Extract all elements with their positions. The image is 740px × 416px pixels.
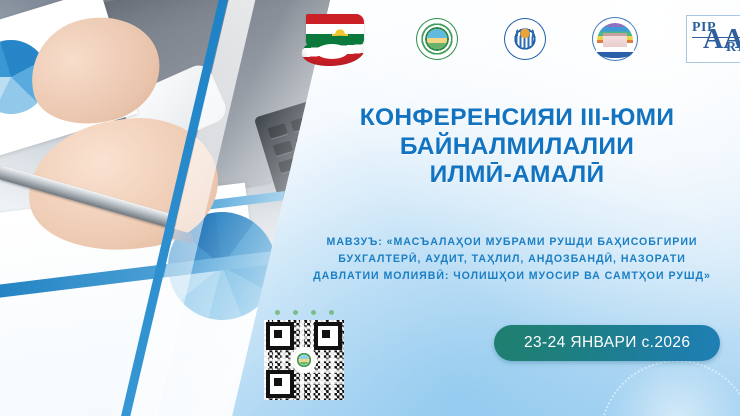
qr-dot xyxy=(275,310,280,315)
tajik-state-university-of-commerce-seal-icon xyxy=(416,18,458,60)
title-line-3: ИЛМӢ-АМАЛӢ xyxy=(300,161,734,190)
qr-code-icon[interactable] xyxy=(264,320,344,400)
qr-dot xyxy=(311,310,316,315)
qr-dot-row xyxy=(268,310,340,315)
logo-row: PIP AA RT xyxy=(300,4,732,74)
subtitle-line-1: МАВЗУЪ: «МАСЪАЛАҲОИ МУБРАМИ РУШДИ БАҲИСО… xyxy=(286,234,738,251)
tajikistan-flag-ribbon-icon xyxy=(300,8,366,70)
subtitle-line-3: ДАВЛАТИИ МОЛИЯВӢ: ЧОЛИШҲОИ МУОСИР ВА САМ… xyxy=(286,268,738,285)
cis-emblem-seal-icon xyxy=(504,18,546,60)
page-title: КОНФЕРЕНСИЯИ III-ЮМИ БАЙНАЛМИЛАЛИИ ИЛМӢ-… xyxy=(300,104,734,190)
subtitle-line-2: БУХГАЛТЕРӢ, АУДИТ, ТАҲЛИЛ, АНДОЗБАНДӢ, Н… xyxy=(286,251,738,268)
title-line-1: КОНФЕРЕНСИЯИ III-ЮМИ xyxy=(300,104,734,133)
title-line-2: БАЙНАЛМИЛАЛИИ xyxy=(300,133,734,162)
qr-dot xyxy=(293,310,298,315)
date-badge: 23-24 ЯНВАРИ с.2026 xyxy=(494,325,720,361)
qr-center-logo-icon xyxy=(293,349,315,371)
conference-poster: PIP AA RT КОНФЕРЕНСИЯИ III-ЮМИ БАЙНАЛМИЛ… xyxy=(0,0,740,416)
pipa-logo-text-right: RT xyxy=(726,40,740,56)
qr-dot xyxy=(329,310,334,315)
qr-code-block[interactable] xyxy=(258,310,350,400)
subtitle-theme: МАВЗУЪ: «МАСЪАЛАҲОИ МУБРАМИ РУШДИ БАҲИСО… xyxy=(286,234,738,285)
pipa-aart-logo-icon: PIP AA RT xyxy=(686,15,740,63)
institute-building-rainbow-book-logo-icon xyxy=(592,17,638,61)
